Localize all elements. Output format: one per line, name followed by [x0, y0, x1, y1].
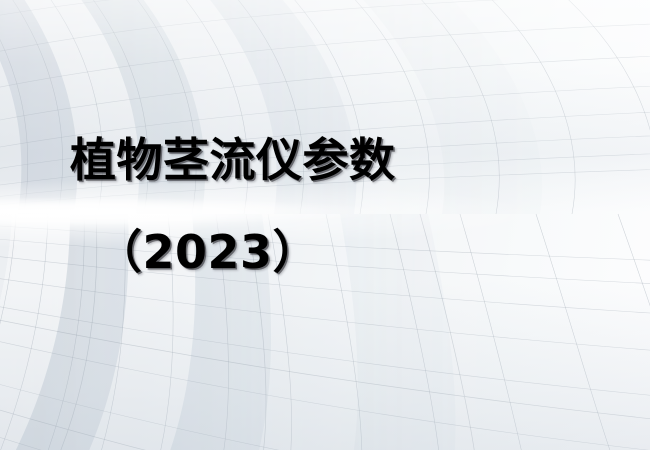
title-slide: 植物茎流仪参数 （2023）	[0, 0, 650, 450]
slide-title-line-1: 植物茎流仪参数	[70, 133, 396, 187]
slide-title-block: 植物茎流仪参数 （2023）	[0, 0, 650, 450]
slide-title-line-2: （2023）	[96, 224, 319, 280]
